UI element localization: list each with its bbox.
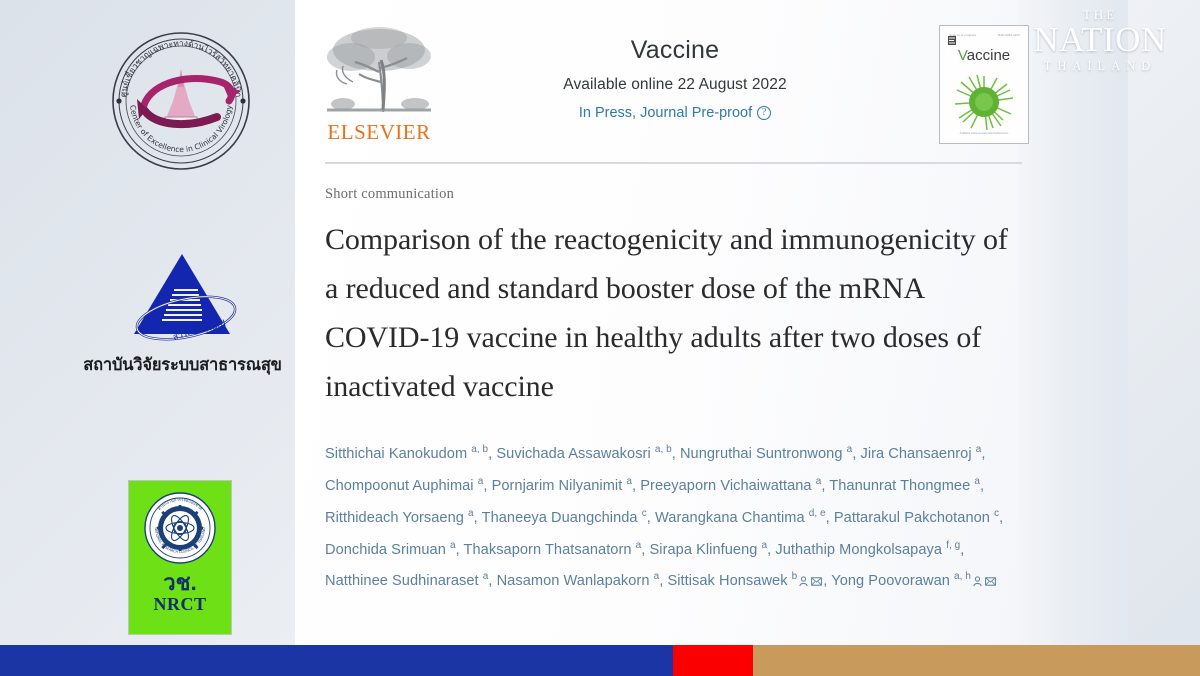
article-type-label: Short communication [325,186,1025,203]
author-affiliation-marker[interactable]: a [974,476,980,487]
author-affiliation-marker[interactable]: a [762,540,768,551]
author-affiliation-marker[interactable]: b [792,571,798,582]
journal-availability-date: Available online 22 August 2022 [475,76,875,94]
author-name[interactable]: Thaksaporn Thatsanatorn [464,541,632,557]
masthead-divider [325,162,1022,164]
question-mark-icon[interactable]: ? [757,106,771,120]
journal-header-block: Vaccine Available online 22 August 2022 … [475,36,875,121]
nation-thailand-watermark: THE NATION THAILAND [1014,8,1186,73]
journal-title: Vaccine [475,36,875,65]
cecv-seal-icon: ศูนย์เชี่ยวชาญเฉพาะทางด้านไวรัสวิทยาคลิน… [105,25,257,177]
author-name[interactable]: Nungruthai Suntronwong [680,446,843,462]
author-name[interactable]: Thanunrat Thongmee [829,478,970,494]
author-name[interactable]: Yong Poovorawan [831,573,950,589]
author-name[interactable]: Natthinee Sudhinaraset [325,573,479,589]
author-name[interactable]: Sirapa Klinfueng [650,541,758,557]
author-name[interactable]: Sittisak Honsawek [667,573,787,589]
author-affiliation-marker[interactable]: a [483,571,489,582]
envelope-icon[interactable] [811,576,822,587]
hsri-triangle-icon: HSRI สวรส. [122,248,242,346]
nrct-logo: สำนักงานการวิจัยแห่งชาติ NATIONAL RESEAR… [128,480,232,635]
cover-elsevier-mark-icon [948,36,956,45]
person-icon[interactable] [972,576,983,587]
logo-column: ศูนย์เชี่ยวชาญเฉพาะทางด้านไวรัสวิทยาคลิน… [0,0,295,645]
author-affiliation-marker[interactable]: a, b [471,444,488,455]
watermark-line-nation: NATION [1014,22,1186,57]
journal-masthead: ELSEVIER Vaccine Available online 22 Aug… [295,0,1035,162]
virus-particle-icon [953,74,1015,130]
journal-status-label[interactable]: In Press, Journal Pre-proof [579,105,752,121]
nrct-thai-abbr: วช. [163,572,196,594]
author-name[interactable]: Pattarakul Pakchotanon [834,510,990,526]
cover-title-v: V [958,47,967,64]
author-affiliation-marker[interactable]: a, h [954,571,971,582]
cover-title-rest: accine [967,47,1010,64]
author-name[interactable]: Thaneeya Duangchinda [482,510,638,526]
cover-journal-title: Vaccine [944,47,1024,64]
nrct-abbr: NRCT [153,595,206,613]
author-affiliation-marker[interactable]: a [816,476,822,487]
author-list: Sitthichai Kanokudom a, b, Suvichada Ass… [325,436,1025,595]
elsevier-wordmark: ELSEVIER [323,120,435,145]
author-name[interactable]: Juthathip Mongkolsapaya [775,541,942,557]
author-affiliation-marker[interactable]: a [636,540,642,551]
author-affiliation-marker[interactable]: a [468,508,474,519]
author-name[interactable]: Pornjarim Nilyanimit [492,478,623,494]
watermark-line-thailand: THAILAND [1014,60,1186,73]
article-title: Comparison of the reactogenicity and imm… [325,215,1025,411]
author-name[interactable]: Ritthideach Yorsaeng [325,510,464,526]
bottom-bar-blue-segment [0,645,673,676]
elsevier-tree-icon [323,24,435,120]
author-affiliation-marker[interactable]: a [976,444,982,455]
journal-status-row: In Press, Journal Pre-proof ? [475,105,875,121]
bottom-bar-red-segment [673,645,753,676]
envelope-icon[interactable] [985,576,996,587]
author-name[interactable]: Donchida Srimuan [325,541,446,557]
author-name[interactable]: Suvichada Assawakosri [496,446,650,462]
author-affiliation-marker[interactable]: a [450,540,456,551]
person-icon[interactable] [798,576,809,587]
author-affiliation-marker[interactable]: a [478,476,484,487]
nrct-seal-icon: สำนักงานการวิจัยแห่งชาติ NATIONAL RESEAR… [142,490,218,570]
author-name[interactable]: Warangkana Chantima [655,510,805,526]
author-affiliation-marker[interactable]: d, e [809,508,826,519]
author-affiliation-marker[interactable]: f, g [946,540,960,551]
elsevier-logo: ELSEVIER [323,24,435,146]
author-affiliation-marker[interactable]: a [626,476,632,487]
author-name[interactable]: Nasamon Wanlapakorn [497,573,650,589]
author-name[interactable]: Sitthichai Kanokudom [325,446,467,462]
author-affiliation-marker[interactable]: a [847,444,853,455]
author-name[interactable]: Chompoonut Auphimai [325,478,474,494]
hsri-caption-thai: สถาบันวิจัยระบบสาธารณสุข [55,352,310,378]
author-name[interactable]: Jira Chansaenroj [860,446,971,462]
article-block: Short communication Comparison of the re… [325,186,1025,595]
bottom-bar-tan-segment [753,645,1200,676]
cover-footer-micro: Available online at www.sciencedirect.co… [944,132,1024,135]
author-affiliation-marker[interactable]: c [642,508,647,519]
cover-issue-micro: Issue xx in progress [949,34,976,37]
bottom-color-bar [0,645,1200,676]
author-affiliation-marker[interactable]: a, b [655,444,672,455]
author-name[interactable]: Preeyaporn Vichaiwattana [640,478,811,494]
author-affiliation-marker[interactable]: a [654,571,660,582]
author-affiliation-marker[interactable]: c [994,508,999,519]
